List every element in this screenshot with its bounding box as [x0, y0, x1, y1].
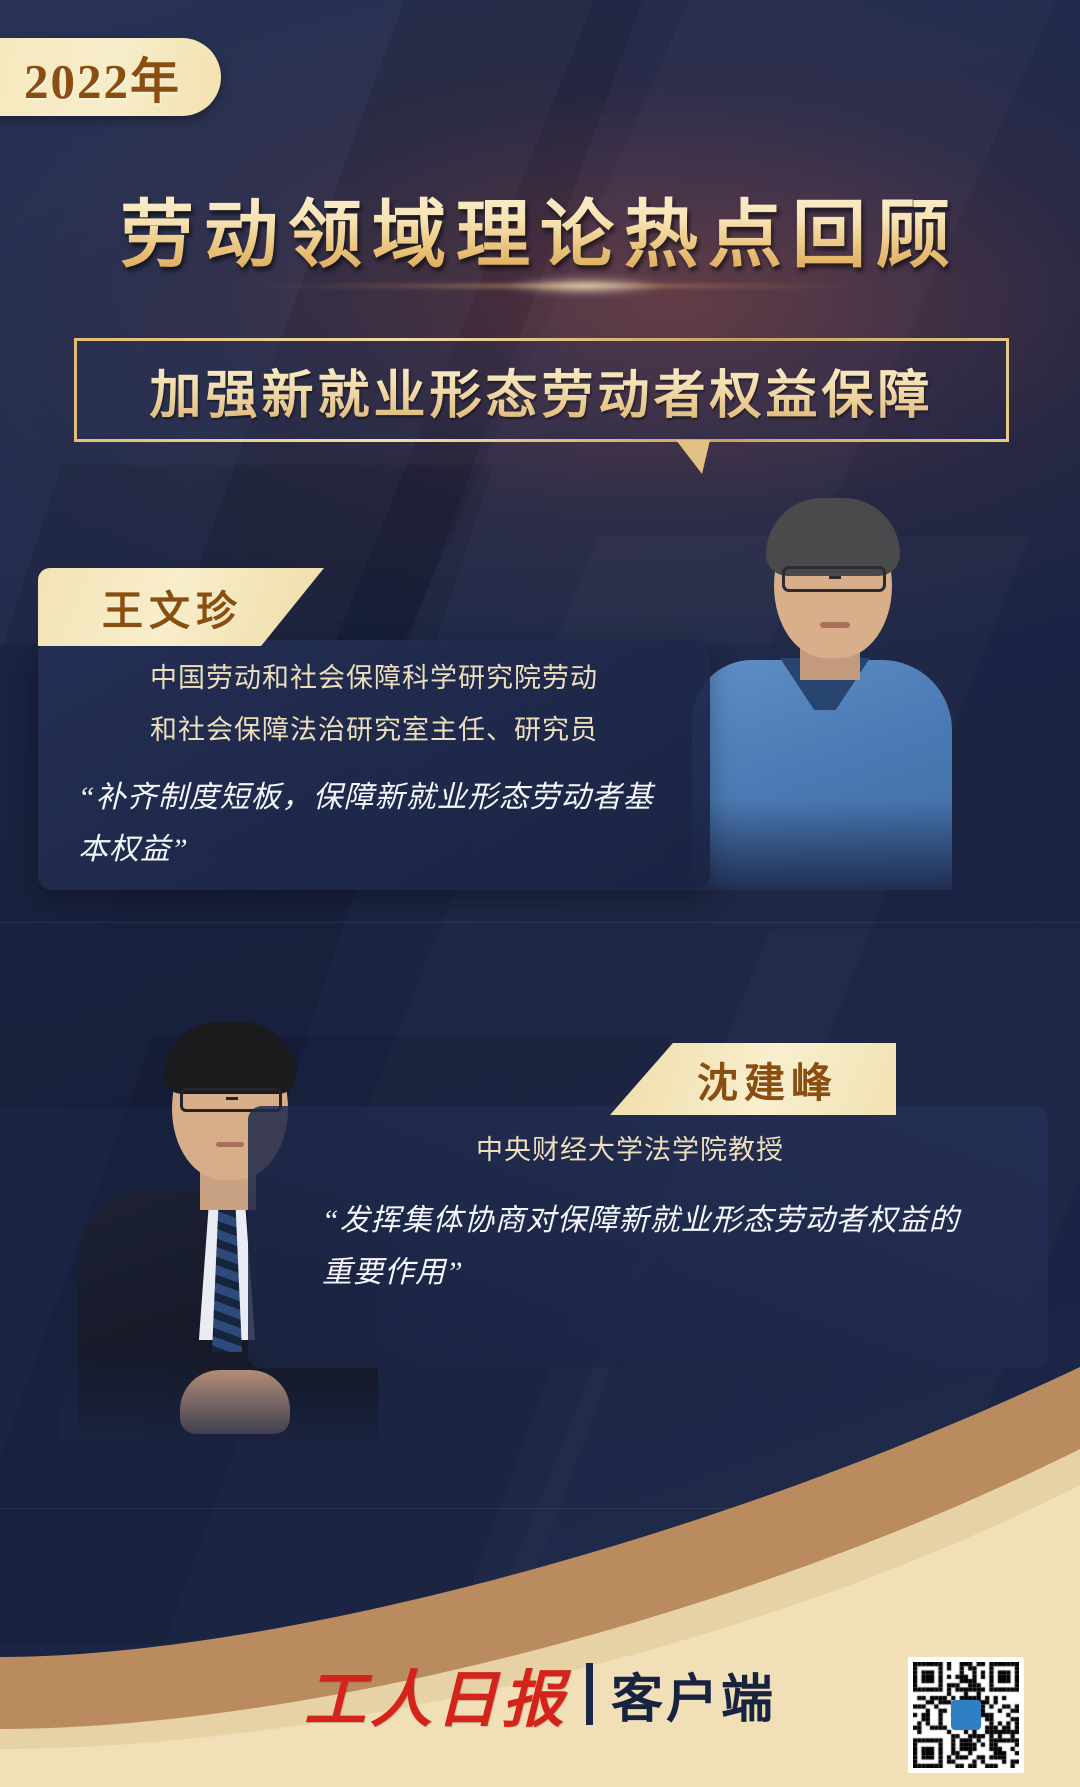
qr-code[interactable]: [908, 1657, 1024, 1773]
glasses-bridge-icon: [226, 1097, 238, 1100]
subtitle-bubble-frame: 加强新就业形态劳动者权益保障: [74, 338, 1009, 442]
footer-logo-divider: [586, 1663, 593, 1725]
divider-line: [0, 922, 1080, 923]
speaker-2-quote: “发挥集体协商对保障新就业形态劳动者权益的重要作用”: [322, 1195, 962, 1299]
speaker-1-affiliation-line2: 和社会保障法治研究室主任、研究员: [38, 704, 710, 756]
speaker-1-affiliation: 中国劳动和社会保障科学研究院劳动 和社会保障法治研究室主任、研究员: [38, 652, 710, 756]
speaker-2-name: 沈建峰: [697, 1049, 838, 1109]
glasses-icon: [782, 566, 886, 592]
speaker-1-affiliation-line1: 中国劳动和社会保障科学研究院劳动: [38, 652, 710, 704]
speaker-1-name: 王文珍: [102, 577, 243, 637]
portrait-hair: [766, 498, 900, 576]
footer-logo-sub: 客户端: [611, 1657, 776, 1732]
subtitle-label: 加强新就业形态劳动者权益保障: [149, 353, 933, 428]
subtitle-bubble-tail: [676, 440, 710, 474]
poster-root: 2022年 劳动领域理论热点回顾 加强新就业形态劳动者权益保障 王文珍 中国劳动…: [0, 0, 1080, 1787]
glasses-bridge-icon: [829, 576, 841, 579]
footer-logo-main: 工人日报: [304, 1649, 568, 1739]
speaker-1-quote: “补齐制度短板，保障新就业形态劳动者基本权益”: [78, 772, 678, 876]
portrait-mouth: [216, 1142, 244, 1147]
portrait-mouth: [820, 622, 850, 628]
year-badge-label: 2022年: [24, 42, 181, 113]
subtitle-bubble: 加强新就业形态劳动者权益保障: [74, 338, 1009, 442]
qr-center-logo: [951, 1700, 981, 1730]
speaker-2-affiliation-line1: 中央财经大学法学院教授: [300, 1125, 960, 1175]
qr-code-matrix: [913, 1662, 1019, 1768]
page-title: 劳动领域理论热点回顾: [0, 175, 1080, 282]
speaker-2-affiliation: 中央财经大学法学院教授: [300, 1125, 960, 1175]
portrait-hair: [164, 1022, 296, 1094]
year-badge: 2022年: [0, 38, 221, 116]
